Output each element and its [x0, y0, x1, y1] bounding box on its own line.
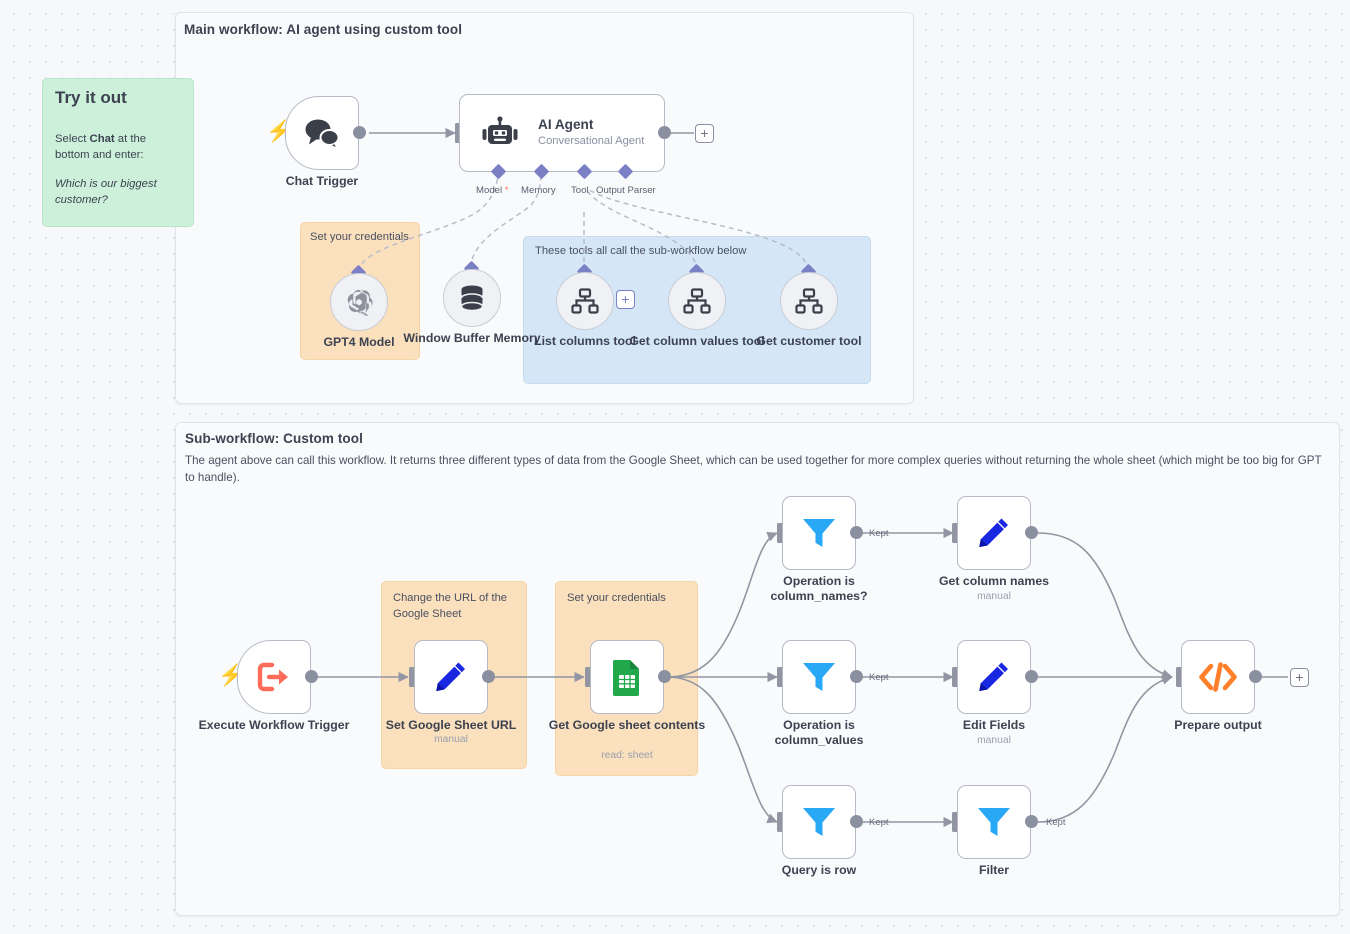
add-node-after-agent-button[interactable]: + [695, 124, 714, 143]
add-node-after-prepare-output-button[interactable]: + [1290, 668, 1309, 687]
edge-get-customer-to-tool-port [586, 188, 808, 271]
openai-icon [344, 287, 374, 317]
get-column-names-label: Get column names [914, 574, 1074, 589]
edit-fields-box[interactable] [957, 640, 1031, 714]
pencil-icon [976, 659, 1012, 695]
execute-workflow-icon [257, 661, 291, 693]
google-sheets-icon [611, 658, 643, 696]
get-google-sheet-contents-output-port[interactable] [658, 670, 671, 683]
get-customer-tool-label: Get customer tool [734, 334, 884, 349]
chat-trigger-output-port[interactable] [353, 126, 366, 139]
database-icon [459, 284, 485, 312]
edge-label-kept-2: Kept [869, 672, 889, 683]
set-google-sheet-url-output-port[interactable] [482, 670, 495, 683]
execute-workflow-trigger-output-port[interactable] [305, 670, 318, 683]
edit-fields-output-port[interactable] [1025, 670, 1038, 683]
workflow-canvas[interactable]: Main workflow: AI agent using custom too… [0, 0, 1350, 934]
filter-funnel-icon [801, 805, 837, 839]
edit-fields-subtitle: manual [914, 735, 1074, 746]
window-buffer-memory-box[interactable] [443, 269, 501, 327]
get-google-sheet-contents-box[interactable] [590, 640, 664, 714]
execute-workflow-trigger-label: Execute Workflow Trigger [194, 718, 354, 733]
port-label-memory: Memory [521, 185, 556, 196]
sitemap-icon [571, 288, 599, 314]
get-column-values-tool-box[interactable] [668, 272, 726, 330]
operation-is-column-names-output-port[interactable] [850, 526, 863, 539]
chat-trigger-box[interactable] [285, 96, 359, 170]
list-columns-tool-box[interactable] [556, 272, 614, 330]
edge-get-column-names-to-prepare-output [1038, 533, 1172, 677]
edge-label-kept-4: Kept [1046, 817, 1066, 828]
edge-label-kept-1: Kept [869, 528, 889, 539]
sitemap-icon [795, 288, 823, 314]
set-google-sheet-url-label: Set Google Sheet URL [371, 718, 531, 733]
code-icon [1198, 661, 1238, 693]
get-google-sheet-contents-label: Get Google sheet contents [547, 718, 707, 733]
edge-filter-to-prepare-output [1038, 677, 1172, 822]
filter-funnel-icon [801, 660, 837, 694]
port-label-tool: Tool [571, 185, 589, 196]
get-column-names-output-port[interactable] [1025, 526, 1038, 539]
operation-is-column-names-box[interactable] [782, 496, 856, 570]
operation-is-column-values-output-port[interactable] [850, 670, 863, 683]
filter-label: Filter [914, 863, 1074, 878]
chat-bubbles-icon [302, 117, 342, 149]
port-label-output-parser: Output Parser [596, 185, 656, 196]
filter-funnel-icon [976, 805, 1012, 839]
filter-output-port[interactable] [1025, 815, 1038, 828]
prepare-output-output-port[interactable] [1249, 670, 1262, 683]
get-column-names-box[interactable] [957, 496, 1031, 570]
operation-is-column-values-box[interactable] [782, 640, 856, 714]
edit-fields-label: Edit Fields [914, 718, 1074, 733]
edge-sheet-to-op-column-names [667, 533, 777, 677]
ai-agent-subtitle: Conversational Agent [538, 135, 644, 147]
get-google-sheet-contents-subtitle: read: sheet [547, 750, 707, 761]
ai-agent-title: AI Agent [538, 117, 593, 132]
query-is-row-label: Query is row [739, 863, 899, 878]
sitemap-icon [683, 288, 711, 314]
edge-label-kept-3: Kept [869, 817, 889, 828]
prepare-output-box[interactable] [1181, 640, 1255, 714]
ai-agent-box[interactable]: AI Agent Conversational Agent [459, 94, 665, 172]
add-output-parser-button[interactable]: + [616, 290, 635, 309]
query-is-row-output-port[interactable] [850, 815, 863, 828]
filter-box[interactable] [957, 785, 1031, 859]
get-customer-tool-box[interactable] [780, 272, 838, 330]
pencil-icon [976, 515, 1012, 551]
get-column-names-subtitle: manual [914, 591, 1074, 602]
edge-get-column-values-to-tool-port [585, 188, 697, 271]
gpt4-model-box[interactable] [330, 273, 388, 331]
filter-funnel-icon [801, 516, 837, 550]
chat-trigger-label: Chat Trigger [242, 174, 402, 189]
pencil-icon [433, 659, 469, 695]
set-google-sheet-url-box[interactable] [414, 640, 488, 714]
robot-icon [480, 116, 520, 150]
port-label-model: Model * [476, 185, 509, 196]
set-google-sheet-url-subtitle: manual [371, 734, 531, 745]
query-is-row-box[interactable] [782, 785, 856, 859]
operation-is-column-names-label: Operation is column_names? [739, 574, 899, 604]
prepare-output-label: Prepare output [1138, 718, 1298, 733]
connection-edges: Kept Kept Kept Kept [0, 0, 1350, 934]
operation-is-column-values-label: Operation is column_values [739, 718, 899, 748]
ai-agent-output-port[interactable] [658, 126, 671, 139]
execute-workflow-trigger-box[interactable] [237, 640, 311, 714]
